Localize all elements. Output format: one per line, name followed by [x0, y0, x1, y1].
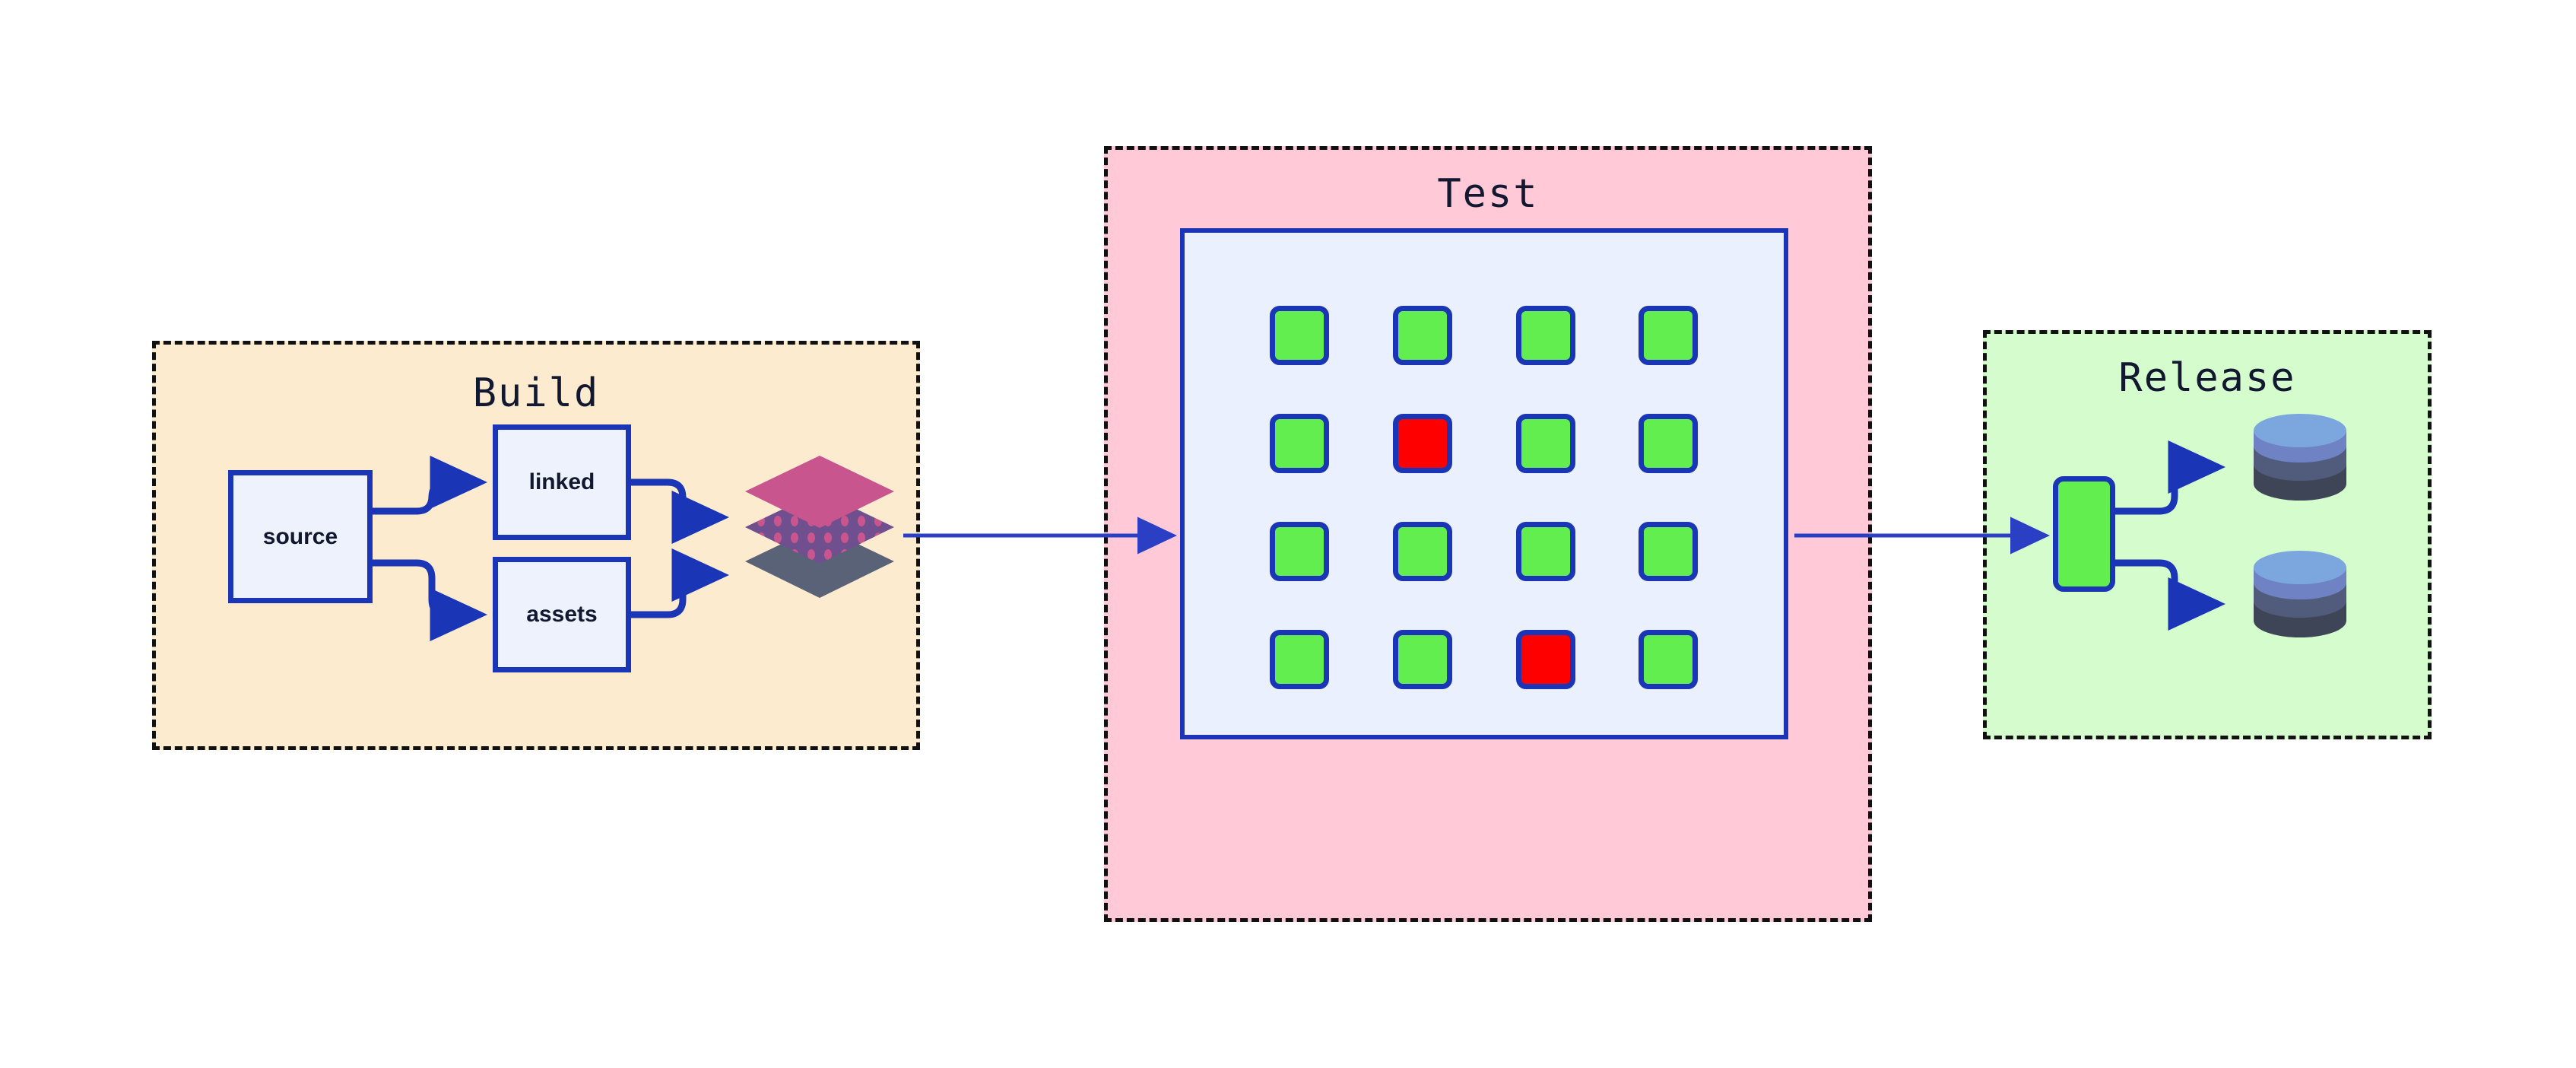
stage-release[interactable]: Release	[1983, 330, 2432, 739]
test-cell-r2c4[interactable]	[1639, 414, 1698, 473]
test-cell-r4c4[interactable]	[1639, 630, 1698, 689]
node-release-artifact[interactable]	[2053, 476, 2115, 592]
test-cell-r3c4[interactable]	[1639, 522, 1698, 581]
stage-release-title: Release	[1987, 355, 2428, 401]
test-results-panel	[1180, 228, 1788, 739]
test-cell-r1c1[interactable]	[1270, 306, 1329, 365]
test-cell-r4c2[interactable]	[1393, 630, 1452, 689]
stage-test-title: Test	[1108, 171, 1868, 217]
test-cell-r2c3[interactable]	[1516, 414, 1575, 473]
node-source-label: source	[263, 524, 338, 550]
node-assets[interactable]: assets	[493, 557, 631, 672]
test-cell-r1c4[interactable]	[1639, 306, 1698, 365]
test-cell-r3c3[interactable]	[1516, 522, 1575, 581]
node-linked-label: linked	[529, 469, 595, 495]
test-cell-r3c2[interactable]	[1393, 522, 1452, 581]
database-icon-primary[interactable]	[2251, 411, 2349, 502]
stage-build-title: Build	[156, 370, 916, 416]
test-cell-r1c2[interactable]	[1393, 306, 1452, 365]
node-source[interactable]: source	[228, 470, 373, 603]
database-icon-replica[interactable]	[2251, 548, 2349, 639]
layers-stack-icon	[736, 446, 903, 609]
test-cell-r2c2[interactable]	[1393, 414, 1452, 473]
test-cell-r3c1[interactable]	[1270, 522, 1329, 581]
test-cell-r4c3[interactable]	[1516, 630, 1575, 689]
test-cell-r1c3[interactable]	[1516, 306, 1575, 365]
test-results-grid	[1270, 306, 1711, 689]
diagram-canvas: Build source linked assets	[0, 0, 2576, 1068]
node-assets-label: assets	[526, 602, 597, 628]
node-linked[interactable]: linked	[493, 424, 631, 540]
test-cell-r2c1[interactable]	[1270, 414, 1329, 473]
test-cell-r4c1[interactable]	[1270, 630, 1329, 689]
